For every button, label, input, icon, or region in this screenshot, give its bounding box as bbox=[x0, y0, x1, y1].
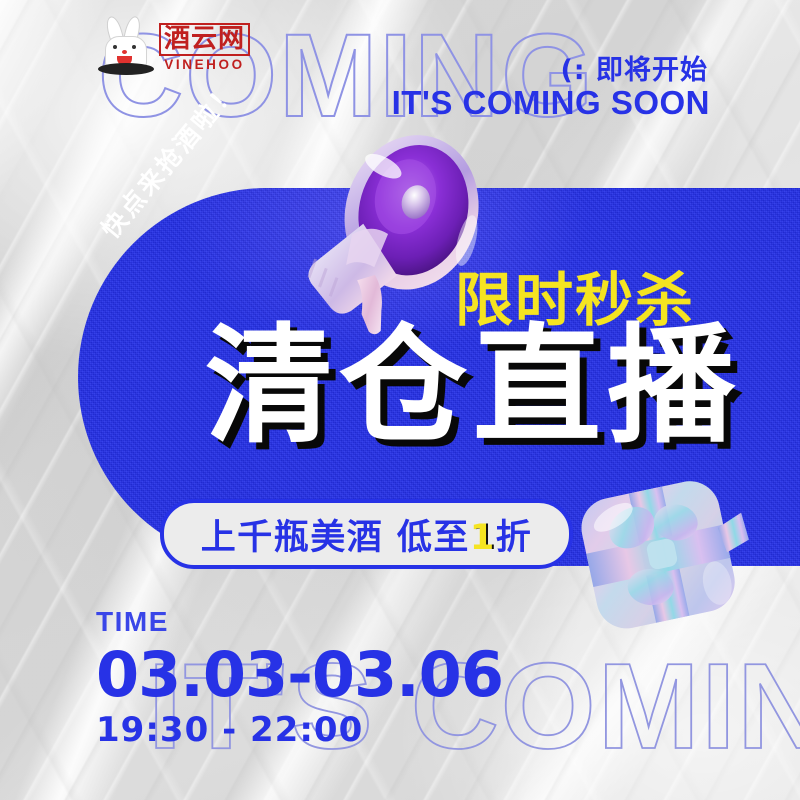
offer-discount-number: 1 bbox=[470, 518, 496, 558]
rabbit-nose-icon bbox=[122, 50, 127, 54]
promo-poster: COMING IT'S COMING 酒云网 VINEHOO (: 即将开始 I… bbox=[0, 0, 800, 800]
offer-text-after: 折 bbox=[496, 518, 533, 558]
coming-soon-heading: IT'S COMING SOON bbox=[392, 84, 710, 122]
rabbit-eye-left-icon bbox=[113, 45, 117, 49]
time-label: TIME bbox=[96, 608, 503, 636]
logo-english-name: VINEHOO bbox=[164, 58, 244, 72]
kicker-text: (: 即将开始 bbox=[560, 48, 708, 87]
offer-cta-pill[interactable]: 上千瓶美酒 低至1折 bbox=[160, 499, 573, 569]
rabbit-eye-right-icon bbox=[132, 45, 136, 49]
logo-wordmark: 酒云网 VINEHOO bbox=[159, 23, 250, 72]
time-block: TIME 03.03-03.06 19:30 - 22:00 bbox=[96, 608, 503, 747]
rabbit-mascot-icon bbox=[98, 16, 154, 78]
main-headline: 清仓直播 bbox=[205, 323, 741, 451]
offer-cta-text: 上千瓶美酒 低至1折 bbox=[201, 509, 533, 560]
rabbit-hole-icon bbox=[98, 63, 154, 75]
brand-logo[interactable]: 酒云网 VINEHOO bbox=[98, 16, 250, 78]
time-hours: 19:30 - 22:00 bbox=[96, 713, 503, 747]
logo-chinese-name: 酒云网 bbox=[159, 23, 250, 56]
offer-text-before: 上千瓶美酒 低至 bbox=[201, 518, 470, 558]
gift-box-3d-icon bbox=[570, 466, 755, 641]
time-date-range: 03.03-03.06 bbox=[96, 642, 503, 707]
